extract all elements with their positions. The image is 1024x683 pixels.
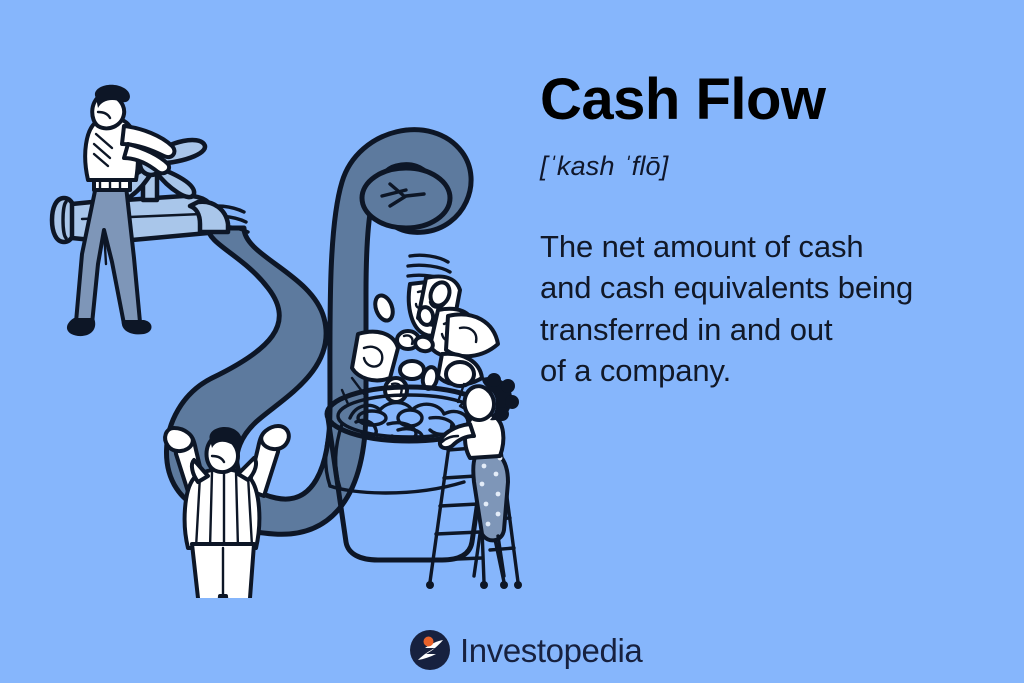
definition-line-1: The net amount of cash [540,226,1000,268]
definition-text-block: Cash Flow [ˈkash ˈflō] The net amount of… [540,70,1000,392]
investopedia-circle-mark [409,629,451,671]
definition-line-4: of a company. [540,350,1000,392]
investopedia-logo[interactable]: Investopedia [409,629,642,671]
investopedia-wordmark: Investopedia [460,634,642,667]
definition-line-3: transferred in and out [540,309,1000,351]
person-on-ladder [440,373,519,576]
cash-flow-definition-card: .ln { fill:none; stroke:#0d1626; stroke-… [0,0,1024,683]
definition-line-2: and cash equivalents being [540,267,1000,309]
pronunciation-text: [ˈkash ˈflō] [540,151,1000,182]
definition-text: The net amount of cash and cash equivale… [540,226,1000,392]
cash-flow-faucet-illustration: .ln { fill:none; stroke:#0d1626; stroke-… [12,78,532,598]
page-title: Cash Flow [540,70,1000,131]
